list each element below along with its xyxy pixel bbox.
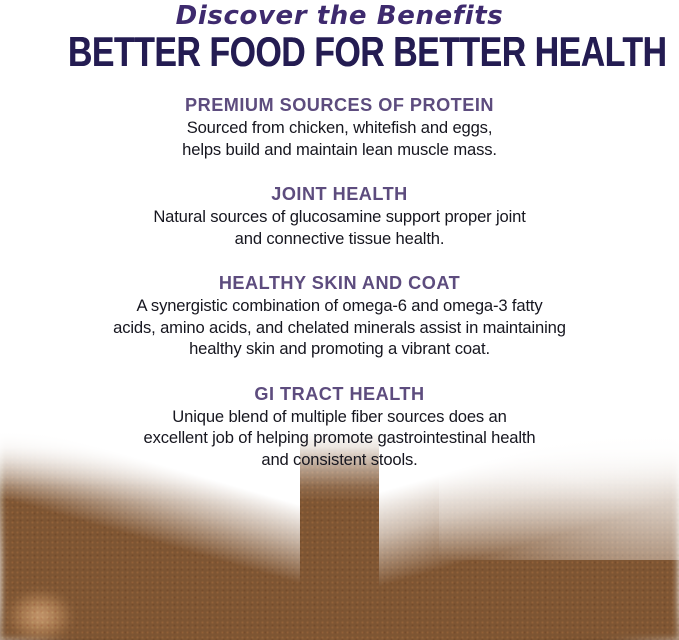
body-line: A synergistic combination of omega-6 and… (0, 295, 679, 317)
body-line: and connective tissue health. (0, 228, 679, 250)
section-heading: JOINT HEALTH (7, 182, 672, 205)
benefit-sections-list: PREMIUM SOURCES OF PROTEIN Sourced from … (0, 93, 679, 470)
section-body: A synergistic combination of omega-6 and… (0, 295, 679, 360)
body-line: Sourced from chicken, whitefish and eggs… (0, 117, 679, 139)
section-body: Unique blend of multiple fiber sources d… (0, 406, 679, 471)
benefit-section-gi-tract-health: GI TRACT HEALTH Unique blend of multiple… (0, 382, 679, 471)
benefit-section-healthy-skin-and-coat: HEALTHY SKIN AND COAT A synergistic comb… (0, 271, 679, 360)
section-body: Natural sources of glucosamine support p… (0, 206, 679, 249)
body-line: Natural sources of glucosamine support p… (0, 206, 679, 228)
text-content-area: Discover the Benefits BETTER FOOD FOR BE… (0, 0, 679, 470)
section-body: Sourced from chicken, whitefish and eggs… (0, 117, 679, 160)
section-heading: PREMIUM SOURCES OF PROTEIN (7, 93, 672, 116)
body-line: excellent job of helping promote gastroi… (0, 427, 679, 449)
body-line: helps build and maintain lean muscle mas… (0, 139, 679, 161)
body-line: and consistent stools. (0, 449, 679, 471)
section-heading: HEALTHY SKIN AND COAT (7, 271, 672, 294)
benefit-section-joint-health: JOINT HEALTH Natural sources of glucosam… (0, 182, 679, 249)
body-line: Unique blend of multiple fiber sources d… (0, 406, 679, 428)
body-line: acids, amino acids, and chelated mineral… (0, 317, 679, 339)
body-line: healthy skin and promoting a vibrant coa… (0, 338, 679, 360)
benefit-section-premium-sources-of-protein: PREMIUM SOURCES OF PROTEIN Sourced from … (0, 93, 679, 160)
page-title: BETTER FOOD FOR BETTER HEALTH (68, 29, 611, 75)
section-heading: GI TRACT HEALTH (7, 382, 672, 405)
script-subtitle: Discover the Benefits (0, 0, 679, 30)
product-feature-infographic: Discover the Benefits BETTER FOOD FOR BE… (0, 0, 679, 640)
